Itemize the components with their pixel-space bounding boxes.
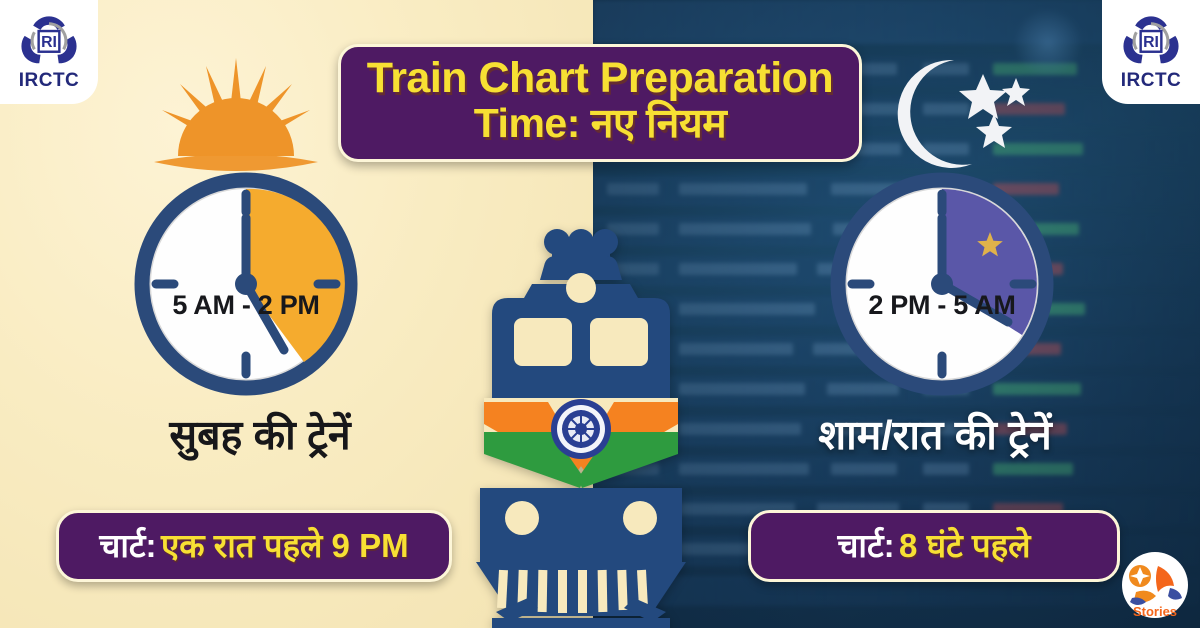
svg-text:RI: RI: [41, 34, 57, 51]
caption-night: शाम/रात की ट्रेनें: [700, 415, 1170, 456]
irctc-trefoil-logo: RI: [18, 14, 80, 70]
svg-text:RI: RI: [1143, 34, 1159, 51]
clock-morning-label: 5 AM - 2 PM: [134, 290, 358, 321]
clock-morning: 5 AM - 2 PM: [134, 172, 358, 396]
logo-top-left: RI IRCTC: [0, 0, 98, 104]
infographic-canvas: 5 AM - 2 PM 2 PM - 5 AM: [0, 0, 1200, 628]
chip-night-chart: चार्ट: 8 घंटे पहले: [748, 510, 1120, 582]
page-title: Train Chart Preparation Time: नए नियम: [338, 44, 862, 162]
chip-morning-key: चार्ट:: [99, 527, 156, 564]
caption-morning: सुबह की ट्रेनें: [0, 415, 520, 456]
clock-icon: [830, 172, 1054, 396]
chip-night-key: चार्ट:: [837, 527, 894, 564]
title-line-1: Train Chart Preparation: [355, 57, 845, 101]
indian-railways-emblem: [551, 399, 611, 459]
moon-stars-icon: [880, 52, 1036, 172]
title-line-2: Time: नए नियम: [355, 103, 845, 145]
watermark-label: Stories: [1133, 604, 1177, 619]
chip-night-value: 8 घंटे पहले: [899, 527, 1030, 564]
logo-top-left-label: IRCTC: [19, 71, 80, 90]
chip-morning-chart: चार्ट: एक रात पहले 9 PM: [56, 510, 452, 582]
train-front-icon: [452, 226, 710, 628]
clock-night: 2 PM - 5 AM: [830, 172, 1054, 396]
stories-watermark-icon: Stories: [1118, 548, 1192, 622]
logo-top-right: RI IRCTC: [1102, 0, 1200, 104]
clock-night-label: 2 PM - 5 AM: [830, 290, 1054, 321]
chip-morning-value: एक रात पहले 9 PM: [161, 527, 409, 564]
irctc-trefoil-logo: RI: [1120, 14, 1182, 70]
sun-icon: [152, 52, 320, 176]
logo-top-right-label: IRCTC: [1121, 71, 1182, 90]
clock-icon: [134, 172, 358, 396]
